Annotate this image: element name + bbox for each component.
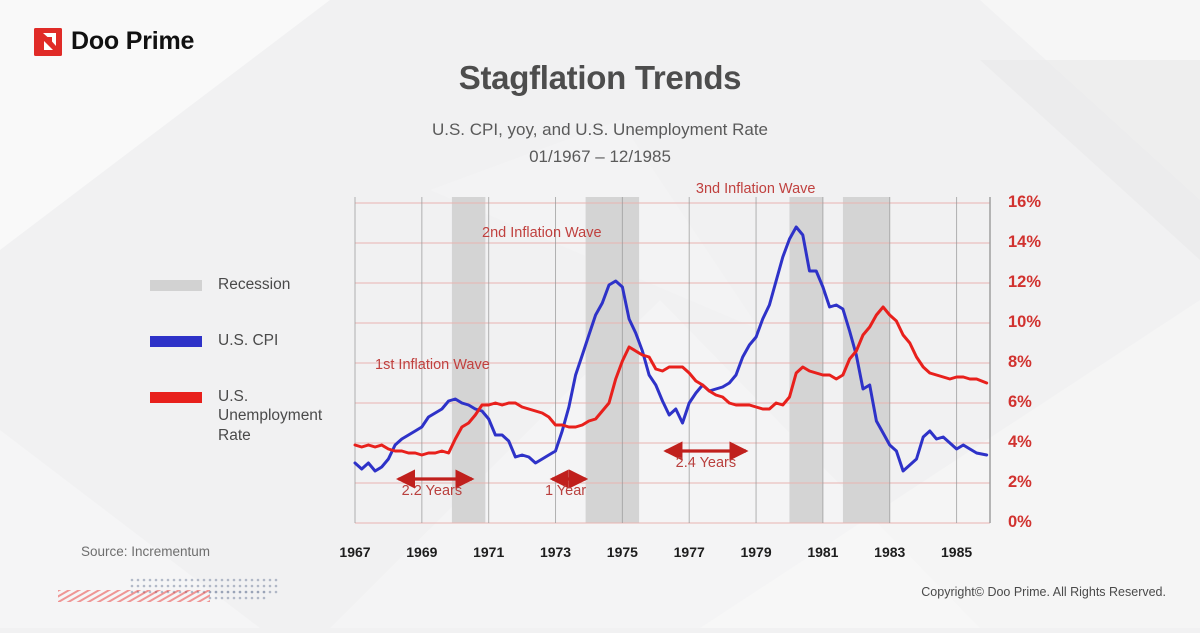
- y-axis-tick: 8%: [1008, 353, 1032, 372]
- x-axis-tick: 1967: [339, 544, 370, 560]
- y-axis-tick: 16%: [1008, 193, 1041, 212]
- source-note: Source: Incrementum: [81, 544, 210, 559]
- y-axis-tick: 10%: [1008, 313, 1041, 332]
- recession-band: [586, 197, 639, 523]
- x-axis-tick: 1973: [540, 544, 571, 560]
- inflation-wave-label: 2nd Inflation Wave: [482, 225, 602, 241]
- duration-label: 1 Year: [545, 483, 586, 499]
- y-axis-tick: 6%: [1008, 393, 1032, 412]
- decorative-pattern: [58, 578, 294, 604]
- copyright-note: Copyright© Doo Prime. All Rights Reserve…: [921, 585, 1166, 599]
- duration-label: 2.2 Years: [402, 483, 462, 499]
- x-axis-tick: 1977: [674, 544, 705, 560]
- y-axis-tick: 4%: [1008, 433, 1032, 452]
- inflation-wave-label: 1st Inflation Wave: [375, 357, 490, 373]
- y-axis-tick: 0%: [1008, 513, 1032, 532]
- duration-label: 2.4 Years: [676, 455, 736, 471]
- x-axis-tick: 1969: [406, 544, 437, 560]
- y-axis-tick: 2%: [1008, 473, 1032, 492]
- stagflation-chart: 0%2%4%6%8%10%12%14%16% 19671969197119731…: [0, 0, 1200, 628]
- x-axis-tick: 1981: [807, 544, 838, 560]
- x-axis-tick: 1983: [874, 544, 905, 560]
- x-axis-tick: 1979: [740, 544, 771, 560]
- x-axis-tick: 1971: [473, 544, 504, 560]
- y-axis-tick: 14%: [1008, 233, 1041, 252]
- series-line-u-s-unemployment-rate: [355, 307, 987, 455]
- series-line-u-s-cpi: [355, 227, 987, 471]
- inflation-wave-label: 3nd Inflation Wave: [696, 181, 816, 197]
- y-axis-tick: 12%: [1008, 273, 1041, 292]
- x-axis-tick: 1975: [607, 544, 638, 560]
- x-axis-tick: 1985: [941, 544, 972, 560]
